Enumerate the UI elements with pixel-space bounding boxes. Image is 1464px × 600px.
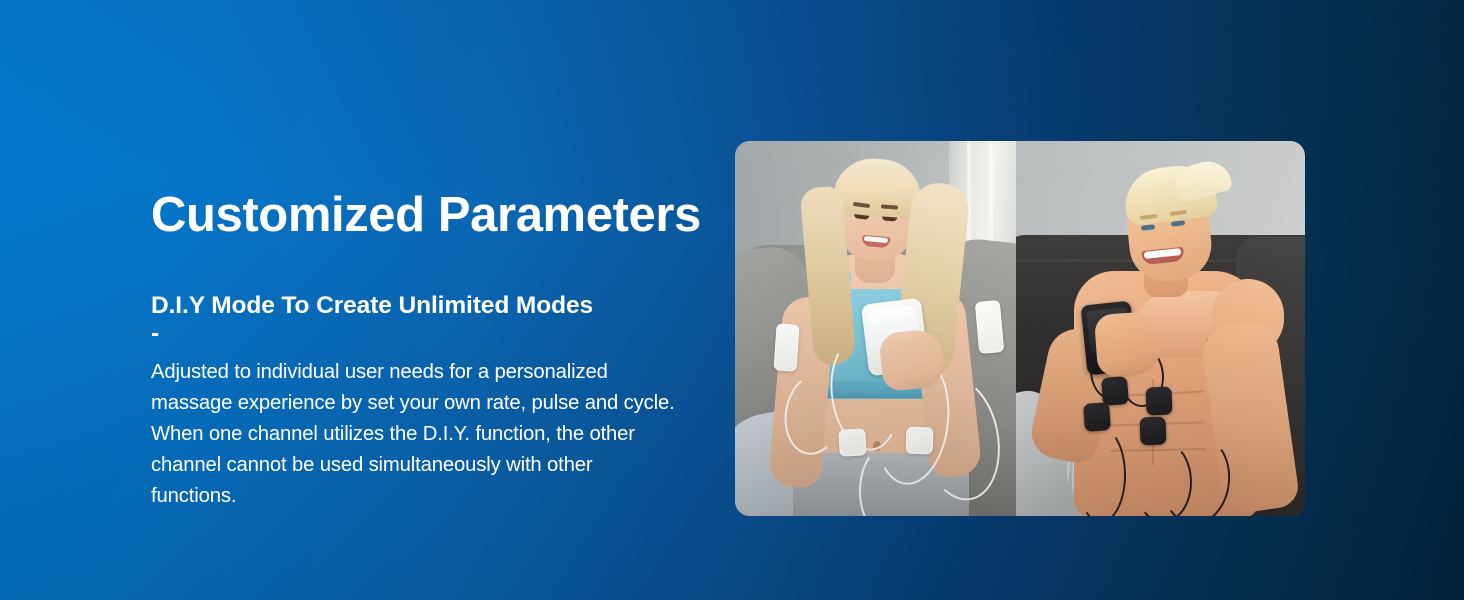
electrode-pad: [1146, 387, 1173, 416]
electrode-pad: [1140, 417, 1167, 446]
product-feature-banner: Customized Parameters D.I.Y Mode To Crea…: [0, 0, 1464, 600]
text-column: Customized Parameters D.I.Y Mode To Crea…: [151, 186, 691, 512]
photo-panel: [735, 141, 1305, 516]
electrode-pad: [1101, 376, 1129, 406]
subheading: D.I.Y Mode To Create Unlimited Modes: [151, 244, 691, 321]
photo-man-using-tens-device: [1016, 141, 1305, 516]
electrode-pad: [838, 428, 866, 456]
photo-woman-using-tens-device: [735, 141, 1016, 516]
body-paragraph: Adjusted to individual user needs for a …: [151, 347, 679, 512]
electrode-pad: [773, 323, 799, 371]
electrode-pad: [975, 300, 1004, 354]
electrode-wire: [1076, 427, 1126, 516]
hand-holding-device: [1094, 311, 1162, 377]
subheading-dash: -: [151, 321, 691, 347]
page-title: Customized Parameters: [151, 186, 691, 244]
electrode-pad: [1083, 402, 1111, 432]
electrode-pad: [906, 427, 934, 455]
